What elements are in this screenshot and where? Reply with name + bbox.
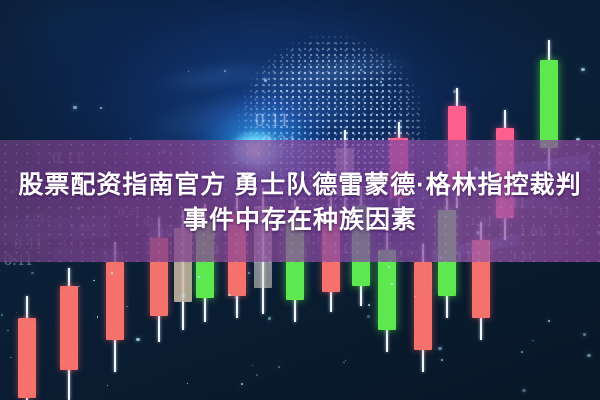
particle-dot [343,362,345,363]
particle-dot [581,68,585,71]
particle-dot [228,294,231,296]
particle-dot [100,107,102,108]
floating-number: 0.11 [255,110,290,132]
particle-dot [16,312,17,313]
particle-dot [198,276,201,278]
particle-dot [78,286,80,288]
candle-body [106,262,124,340]
news-banner: 0.110.210.111.011.010.110.111.011.010.21… [0,0,600,400]
particle-dot [391,283,394,285]
particle-dot [415,296,416,297]
candle-body [414,262,432,350]
candle-body [540,60,558,148]
headline-line-1: 股票配资指南官方 勇士队德雷蒙德·格林指控裁判 [0,168,600,202]
particle-dot [367,315,370,318]
particle-dot [235,297,237,299]
candle-body [60,286,78,370]
particle-dot [256,374,258,376]
particle-dot [360,69,362,71]
candlestick [60,268,78,400]
particle-dot [111,272,113,274]
particle-dot [278,366,280,368]
particle-dot [7,330,8,331]
headline-line-2: 事件中存在种族因素 [0,203,600,237]
candle-body [378,250,396,330]
candlestick [18,296,36,400]
particle-dot [583,333,586,335]
candle-body [18,318,36,398]
particle-dot [587,354,591,357]
candlestick [414,244,432,372]
particle-dot [73,106,76,109]
particle-dot [441,359,443,361]
particle-dot [241,383,243,385]
particle-dot [224,70,226,71]
particle-dot [532,340,534,342]
particle-dot [438,347,442,350]
particle-dot [368,304,371,306]
particle-dot [548,320,550,321]
particle-dot [264,79,268,82]
